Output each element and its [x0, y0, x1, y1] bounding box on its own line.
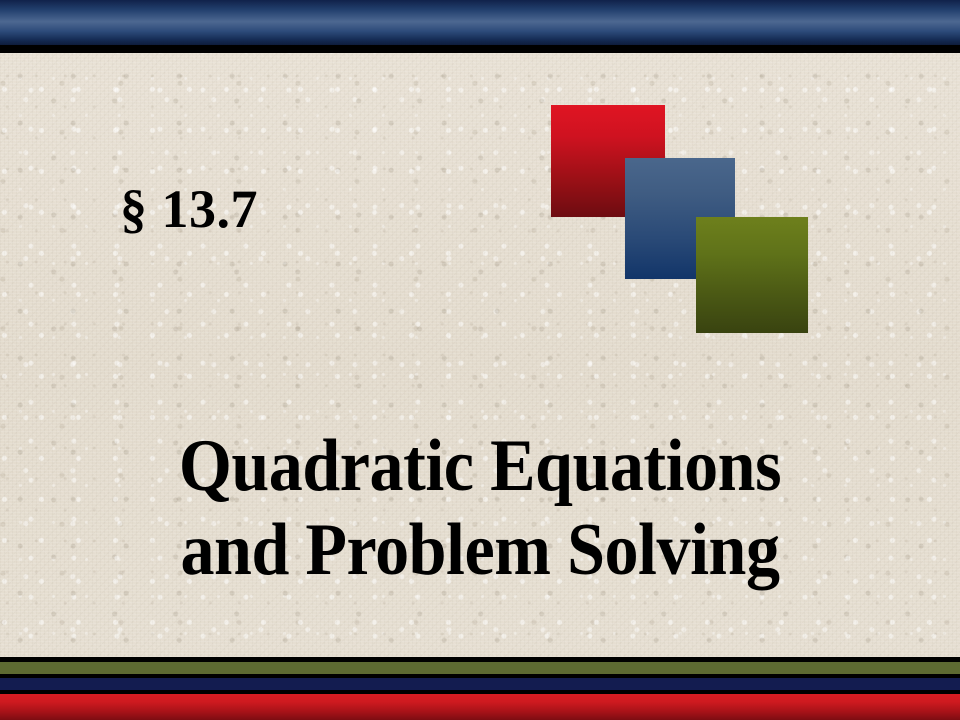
green-square-decoration	[696, 217, 808, 333]
section-number-label: § 13.7	[120, 180, 540, 238]
footer-red-bar	[0, 694, 960, 720]
header-banner	[0, 0, 960, 45]
slide-title: Quadratic Equations and Problem Solving	[0, 424, 960, 593]
footer-olive-bar	[0, 662, 960, 674]
slide-background	[0, 0, 960, 720]
slide-title-line-1: Quadratic Equations	[38, 424, 921, 508]
presentation-slide: § 13.7 Quadratic Equations and Problem S…	[0, 0, 960, 720]
slide-title-line-2: and Problem Solving	[38, 508, 921, 592]
footer-navy-bar	[0, 678, 960, 690]
header-rule	[0, 45, 960, 53]
